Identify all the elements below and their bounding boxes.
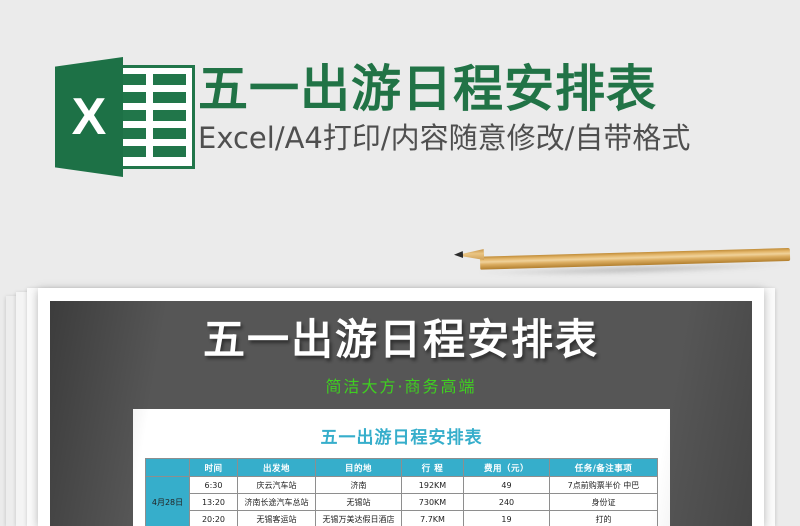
preview-doc-title: 五一出游日程安排表 [50,319,752,361]
cell-origin: 无锡客运站 [238,511,316,526]
preview-doc-subtitle: 简洁大方·商务高端 [50,373,752,397]
worksheet-title: 五一出游日程安排表 [133,423,670,448]
schedule-table: 时间 出发地 目的地 行 程 费用（元） 任务/备注事项 4月28日 6:30 [145,458,658,526]
header-origin: 出发地 [238,459,316,477]
table-row: 13:20 济南长途汽车总站 无锡站 730KM 240 身份证 [146,494,658,511]
banner-text-block: 五一出游日程安排表 Excel/A4打印/内容随意修改/自带格式 [198,62,798,155]
header-cost: 费用（元） [464,459,550,477]
table-row: 20:20 无锡客运站 无锡万美达假日酒店 7.7KM 19 打的 [146,511,658,526]
cell-time: 20:20 [190,511,238,526]
preview-dark-panel: 五一出游日程安排表 简洁大方·商务高端 五一出游日程安排表 时间 出发地 目的 [50,301,752,526]
cell-cost: 240 [464,494,550,511]
cell-time: 6:30 [190,477,238,494]
cell-destination: 济南 [316,477,402,494]
cell-distance: 192KM [402,477,464,494]
page-title: 五一出游日程安排表 [198,62,798,116]
cell-cost: 19 [464,511,550,526]
header-destination: 目的地 [316,459,402,477]
page-subtitle: Excel/A4打印/内容随意修改/自带格式 [198,122,798,155]
pencil-icon [452,245,792,271]
cell-time: 13:20 [190,494,238,511]
table-header-row: 时间 出发地 目的地 行 程 费用（元） 任务/备注事项 [146,459,658,477]
cell-destination: 无锡万美达假日酒店 [316,511,402,526]
template-preview-card[interactable]: 五一出游日程安排表 简洁大方·商务高端 五一出游日程安排表 时间 出发地 目的 [38,288,764,526]
excel-logo-icon: X [55,57,195,177]
cell-origin: 济南长途汽车总站 [238,494,316,511]
cell-origin: 庆云汽车站 [238,477,316,494]
preview-worksheet: 五一出游日程安排表 时间 出发地 目的地 行 程 费用（元） [133,409,670,526]
cell-destination: 无锡站 [316,494,402,511]
cell-distance: 7.7KM [402,511,464,526]
row-date: 4月28日 [146,477,190,526]
table-row: 4月28日 6:30 庆云汽车站 济南 192KM 49 7点前购票半价 中巴 [146,477,658,494]
header-corner [146,459,190,477]
header-distance: 行 程 [402,459,464,477]
header-time: 时间 [190,459,238,477]
pencil-tip [454,251,463,258]
top-banner: X 五一出游日程安排表 Excel/A4打印/内容随意修改/自带格式 [0,0,800,240]
cell-note: 打的 [550,511,658,526]
screenshot-stage: X 五一出游日程安排表 Excel/A4打印/内容随意修改/自带格式 五一出游日… [0,0,800,526]
cell-distance: 730KM [402,494,464,511]
cell-cost: 49 [464,477,550,494]
header-note: 任务/备注事项 [550,459,658,477]
excel-logo-letter: X [55,57,123,177]
cell-note: 身份证 [550,494,658,511]
cell-note: 7点前购票半价 中巴 [550,477,658,494]
